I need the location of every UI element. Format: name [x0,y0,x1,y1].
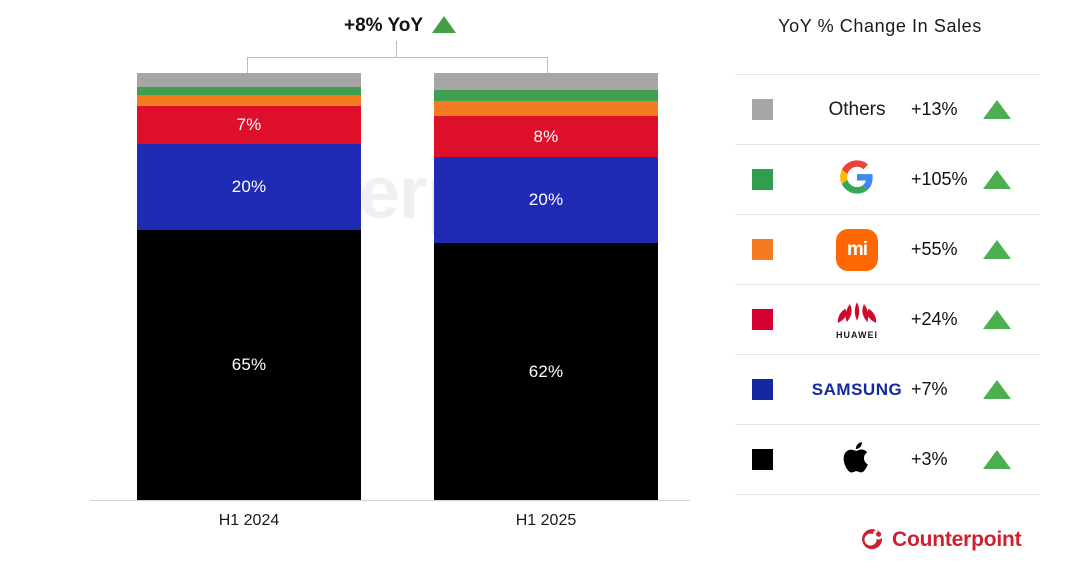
counterpoint-logo: Counterpoint [860,528,1021,552]
legend-row-samsung[interactable]: SAMSUNG+7% [735,355,1040,424]
google-logo-icon [840,160,874,199]
bar-segment-samsung[interactable]: 20% [434,157,658,243]
bar-segment-apple[interactable]: 62% [434,243,658,500]
legend-color-swatch [752,309,773,330]
bar-segment-xiaomi[interactable] [434,101,658,116]
bar-segment-huawei[interactable]: 7% [137,106,361,144]
up-triangle-icon [983,450,1011,469]
legend-color-swatch [752,239,773,260]
legend-brand-cell: mi [797,226,917,274]
legend-row-others[interactable]: Others+13% [735,75,1040,144]
legend-row-xiaomi[interactable]: mi+55% [735,215,1040,284]
up-triangle-icon [983,380,1011,399]
x-tick-label-h1-2024: H1 2024 [137,512,361,530]
legend-pct-change: +55% [911,239,981,260]
legend-color-swatch [752,99,773,120]
bar-segment-google[interactable] [434,90,658,101]
x-axis-line [90,500,690,501]
legend-color-swatch [752,379,773,400]
apple-logo-icon [842,439,872,480]
legend-row-google[interactable]: +105% [735,145,1040,214]
legend-separator [735,494,1040,495]
legend-brand-cell: Others [797,86,917,134]
legend-rows: Others+13%+105%mi+55%HUAWEI+24%SAMSUNG+7… [735,74,1040,495]
legend-title: YoY % Change In Sales [720,16,1040,37]
bracket-top-line [247,57,548,58]
bar-segment-others[interactable] [434,73,658,90]
bar-segment-xiaomi[interactable] [137,95,361,106]
bar-segment-label: 20% [529,190,564,210]
bracket-stem [396,41,397,58]
up-triangle-icon [983,310,1011,329]
legend-row-huawei[interactable]: HUAWEI+24% [735,285,1040,354]
yoy-annotation: +8% YoY [300,14,500,37]
stacked-bar-chart: +8% YoY 7%20%65% 8%20%62% H1 2024 H1 202… [0,0,720,573]
counterpoint-mark-icon [860,528,884,552]
bar-segment-others[interactable] [137,73,361,87]
bar-segment-huawei[interactable]: 8% [434,116,658,157]
bar-segment-label: 8% [534,127,559,147]
legend-brand-cell: SAMSUNG [797,366,917,414]
xiaomi-mark: mi [836,229,878,271]
bar-segment-label: 20% [232,177,267,197]
huawei-flower-mark [836,299,878,329]
bar-segment-apple[interactable]: 65% [137,230,361,500]
legend-color-swatch [752,169,773,190]
up-triangle-icon [983,170,1011,189]
legend-row-apple[interactable]: +3% [735,425,1040,494]
bar-segment-label: 62% [529,362,564,382]
up-triangle-icon [432,16,456,33]
bar-segment-label: 65% [232,355,267,375]
xiaomi-logo-icon: mi [836,229,878,271]
legend-brand-cell [797,156,917,204]
brand-label-others: Others [828,99,885,121]
legend-pct-change: +105% [911,169,981,190]
legend-pct-change: +24% [911,309,981,330]
bar-segment-samsung[interactable]: 20% [137,144,361,230]
up-triangle-icon [983,240,1011,259]
legend-color-swatch [752,449,773,470]
counterpoint-logo-text: Counterpoint [892,528,1021,552]
legend-brand-cell [797,436,917,484]
legend-panel: YoY % Change In Sales Others+13%+105%mi+… [720,0,1080,573]
x-tick-label-h1-2025: H1 2025 [434,512,658,530]
huawei-wordmark: HUAWEI [836,331,878,340]
apple-mark [842,439,872,475]
samsung-logo-icon: SAMSUNG [812,380,902,400]
bar-segment-label: 7% [237,115,262,135]
legend-brand-cell: HUAWEI [797,296,917,344]
bar-segment-google[interactable] [137,87,361,95]
up-triangle-icon [983,100,1011,119]
legend-pct-change: +13% [911,99,981,120]
chart-page: Counterpoint +8% YoY 7%20%65% 8%20%62% H… [0,0,1080,573]
yoy-annotation-text: +8% YoY [344,15,423,36]
huawei-logo-icon: HUAWEI [836,299,878,340]
legend-pct-change: +7% [911,379,981,400]
legend-pct-change: +3% [911,449,981,470]
